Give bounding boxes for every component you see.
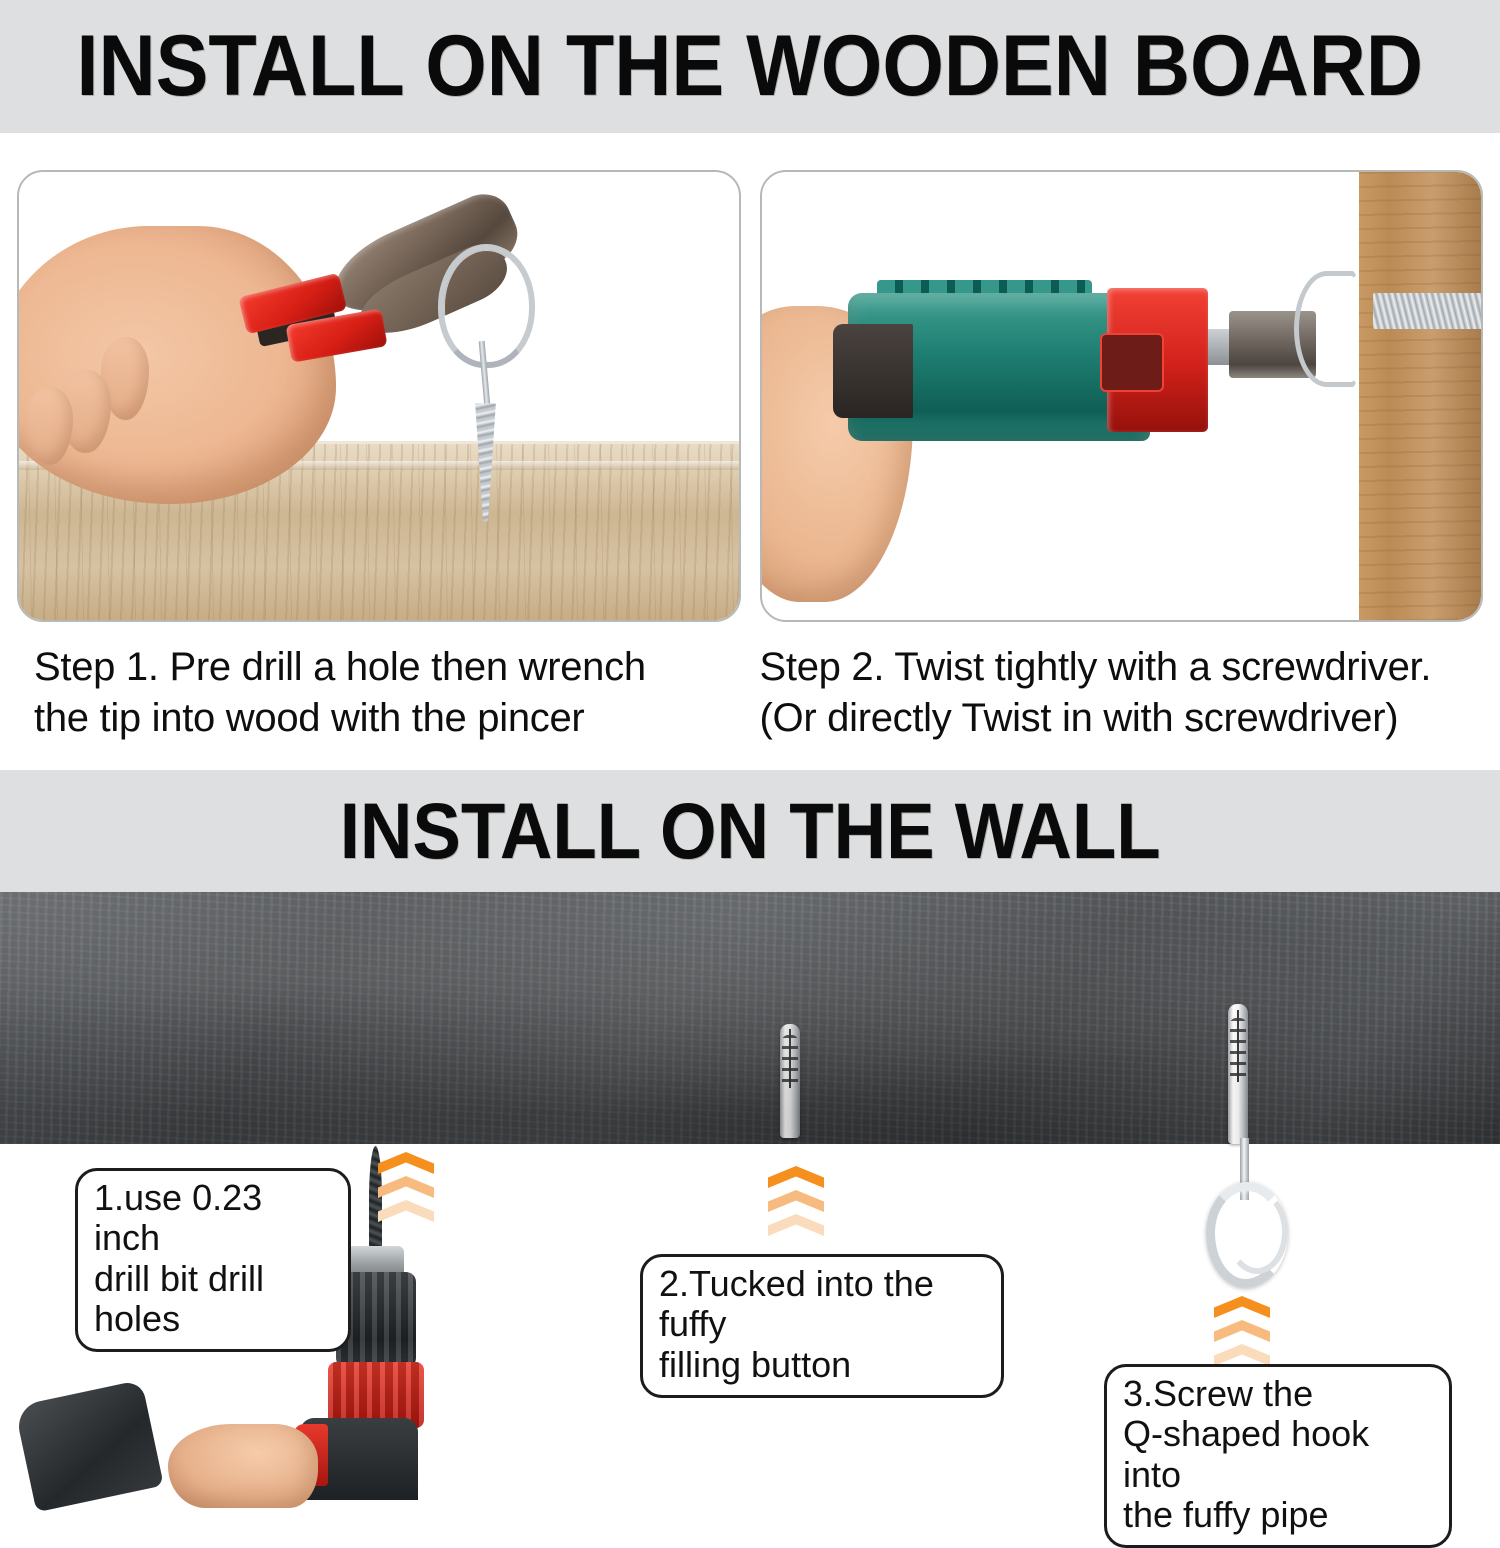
chevron-up-icon bbox=[378, 1200, 434, 1222]
driver-grip-pad bbox=[833, 324, 912, 418]
chevron-up-icon-strong bbox=[378, 1152, 434, 1174]
wooden-board-section: Step 1. Pre drill a hole then wrench the… bbox=[0, 133, 1500, 770]
chevron-up-icon-mid bbox=[1214, 1320, 1270, 1342]
step-1-photo bbox=[17, 170, 741, 622]
wooden-board-banner-title: INSTALL ON THE WOODEN BOARD bbox=[77, 17, 1423, 116]
finger bbox=[25, 387, 73, 465]
step-2-caption: Step 2. Twist tightly with a screwdriver… bbox=[760, 642, 1467, 744]
hook-ring-inner bbox=[1226, 1190, 1288, 1274]
chevron-up-icon-light bbox=[378, 1200, 434, 1222]
q-shaped-hook-on-wall bbox=[1196, 1138, 1304, 1298]
chevron-up-icon-strong bbox=[768, 1166, 824, 1188]
chevron-up-icon-strong bbox=[1214, 1296, 1270, 1318]
step-2-photo bbox=[760, 170, 1484, 622]
up-chevron-arrows-3 bbox=[1214, 1296, 1270, 1366]
hook-screw-thread bbox=[475, 403, 496, 521]
wall-banner: INSTALL ON THE WALL bbox=[0, 770, 1500, 892]
chevron-up-icon-mid bbox=[378, 1176, 434, 1198]
chevron-up-icon bbox=[1214, 1344, 1270, 1366]
board-photo-panels bbox=[17, 170, 1483, 622]
chevron-up-icon bbox=[768, 1214, 824, 1236]
hook-screw-thread bbox=[1373, 293, 1483, 329]
chevron-up-icon bbox=[378, 1152, 434, 1174]
q-shaped-screw-hook-image bbox=[429, 244, 544, 540]
hook-ring bbox=[1294, 271, 1360, 387]
q-shaped-screw-hook-image bbox=[1294, 271, 1380, 387]
wall-callout-2: 2.Tucked into the fuffy filling button bbox=[640, 1254, 1004, 1398]
chevron-up-icon-light bbox=[768, 1214, 824, 1236]
up-chevron-arrows-1 bbox=[378, 1152, 434, 1222]
wall-callout-3: 3.Screw the Q-shaped hook into the fuffy… bbox=[1104, 1364, 1452, 1548]
chevron-up-icon bbox=[378, 1176, 434, 1198]
hook-ring bbox=[438, 244, 535, 368]
chevron-up-icon bbox=[1214, 1296, 1270, 1318]
wooden-board-banner: INSTALL ON THE WOODEN BOARD bbox=[0, 0, 1500, 133]
wall-anchor-plug bbox=[1228, 1004, 1248, 1144]
step-captions: Step 1. Pre drill a hole then wrench the… bbox=[17, 622, 1483, 744]
chevron-up-icon bbox=[768, 1166, 824, 1188]
wall-anchor-plug bbox=[780, 1024, 800, 1138]
step-1-caption: Step 1. Pre drill a hole then wrench the… bbox=[34, 642, 741, 744]
up-chevron-arrows-2 bbox=[768, 1166, 824, 1236]
chevron-up-icon-mid bbox=[768, 1190, 824, 1212]
wooden-post-image bbox=[1359, 172, 1481, 620]
chevron-up-icon-light bbox=[1214, 1344, 1270, 1366]
wall-callout-1: 1.use 0.23 inch drill bit drill holes bbox=[75, 1168, 351, 1352]
concrete-wall-image bbox=[0, 892, 1500, 1144]
driver-direction-switch bbox=[1100, 333, 1165, 391]
chevron-up-icon bbox=[1214, 1320, 1270, 1342]
hand-image bbox=[168, 1424, 318, 1508]
chevron-up-icon bbox=[768, 1190, 824, 1212]
wall-banner-title: INSTALL ON THE WALL bbox=[340, 785, 1161, 877]
